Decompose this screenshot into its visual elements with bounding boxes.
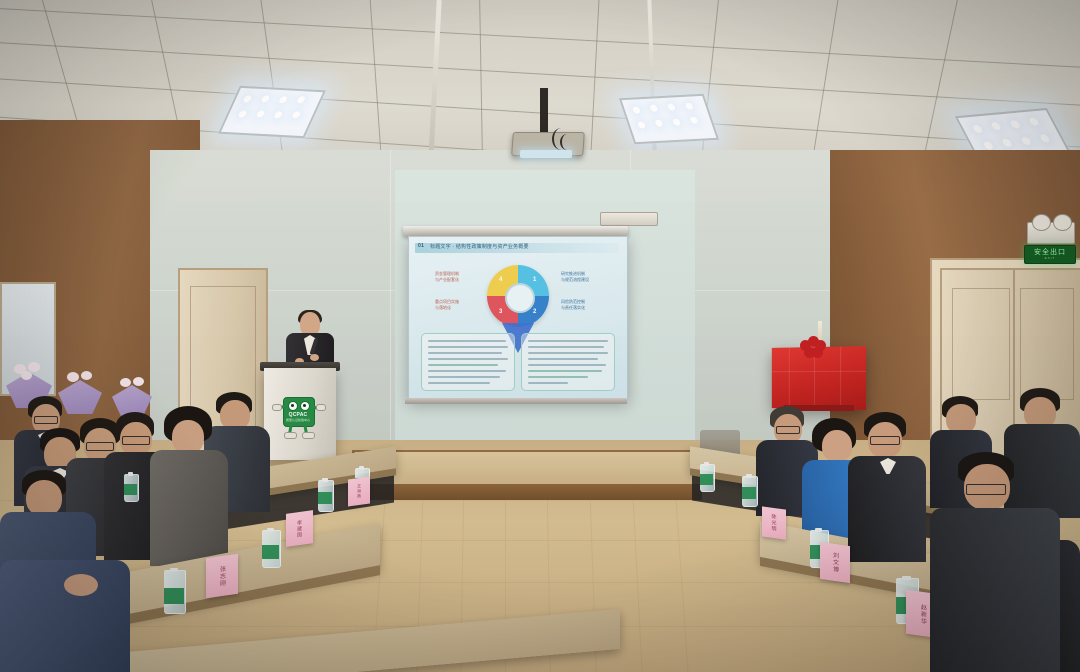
slide-textbox-left — [421, 333, 515, 391]
air-conditioner-unit — [600, 212, 658, 226]
slide-label-line: 与落地化 — [435, 305, 479, 311]
projector-mount — [540, 88, 548, 138]
ceiling-light-panel — [619, 94, 719, 144]
placard-text: 陈光明 — [771, 514, 778, 533]
mascot-shoe — [284, 432, 297, 439]
placard-text: 李建国 — [296, 519, 303, 538]
qcpac-mascot-logo: QCPAC 质量认证检验中心 — [276, 392, 320, 440]
placard-text: 刘文博 — [831, 551, 840, 573]
mascot-hand — [316, 404, 326, 411]
flower-bouquet — [112, 376, 152, 416]
name-placard: 陈光明 — [762, 506, 786, 539]
name-placard: 李建国 — [286, 510, 313, 547]
screen-bottom-bar — [405, 398, 627, 404]
speaker-hand — [310, 354, 319, 361]
slide-donut-hole — [505, 283, 535, 313]
slide-textbox-right — [521, 333, 615, 391]
exit-sign-cn: 安全出口 — [1034, 249, 1066, 256]
water-bottle — [318, 478, 332, 512]
quadrant-number: 3 — [499, 309, 502, 315]
placard-text: 王海燕 — [356, 484, 362, 500]
water-bottle — [262, 528, 279, 568]
exit-sign: 安全出口 EXIT — [1024, 245, 1076, 264]
mascot-subtitle: 质量认证检验中心 — [283, 418, 313, 422]
attendee-left-foreground — [0, 560, 130, 672]
conference-room-photo: ♿ 安全出口 EXIT 01 标题文字 · 结构性政策制度与资产业务概要 1 2… — [0, 0, 1080, 672]
mascot-hand — [272, 404, 282, 411]
mascot-eye — [288, 401, 298, 411]
slide-label-line: 与产业配套化 — [435, 277, 479, 283]
hand — [64, 574, 98, 596]
placard-text: 张志刚 — [218, 565, 227, 587]
slide-label-line: 与规范流程建设 — [561, 277, 605, 283]
slide-title-number: 01 — [418, 243, 424, 249]
attendee-right — [848, 412, 926, 562]
projection-screen: 01 标题文字 · 结构性政策制度与资产业务概要 1 2 3 4 资金管理机制 … — [408, 236, 628, 401]
slide-label-line: 与责任落实化 — [561, 305, 605, 311]
name-placard: 张志刚 — [206, 554, 238, 598]
attendee-right-foreground — [930, 452, 1060, 672]
stage-riser-face — [350, 484, 702, 500]
screen-roller-housing — [403, 226, 628, 236]
mascot-eye — [300, 401, 310, 411]
slide-label-bottom-left: 重点项目实施 与落地化 — [435, 299, 479, 311]
water-bottle — [742, 474, 756, 507]
quadrant-number: 2 — [533, 309, 536, 315]
water-bottle — [164, 568, 184, 614]
slide-label-top-left: 资金管理机制 与产业配套化 — [435, 271, 479, 283]
slide-label-top-right: 研究推进机制 与规范流程建设 — [561, 271, 605, 283]
water-bottle — [124, 472, 137, 502]
ribbon-rosette — [800, 336, 826, 358]
placard-text: 赵新华 — [919, 603, 928, 625]
quadrant-number: 1 — [533, 277, 536, 283]
stage-platform — [355, 452, 700, 486]
slide-label-bottom-right: 风险防范控制 与责任落实化 — [561, 299, 605, 311]
water-bottle — [700, 462, 713, 492]
attendee-left — [150, 406, 228, 566]
quadrant-number: 4 — [499, 277, 502, 283]
slide-title-text: 标题文字 · 结构性政策制度与资产业务概要 — [430, 243, 605, 250]
name-placard: 刘文博 — [820, 542, 850, 583]
name-placard: 王海燕 — [348, 476, 370, 506]
emergency-light — [1027, 222, 1075, 244]
exit-sign-en: EXIT — [1045, 256, 1056, 260]
projector-lens-icon — [520, 150, 572, 158]
mascot-shoe — [302, 432, 315, 439]
